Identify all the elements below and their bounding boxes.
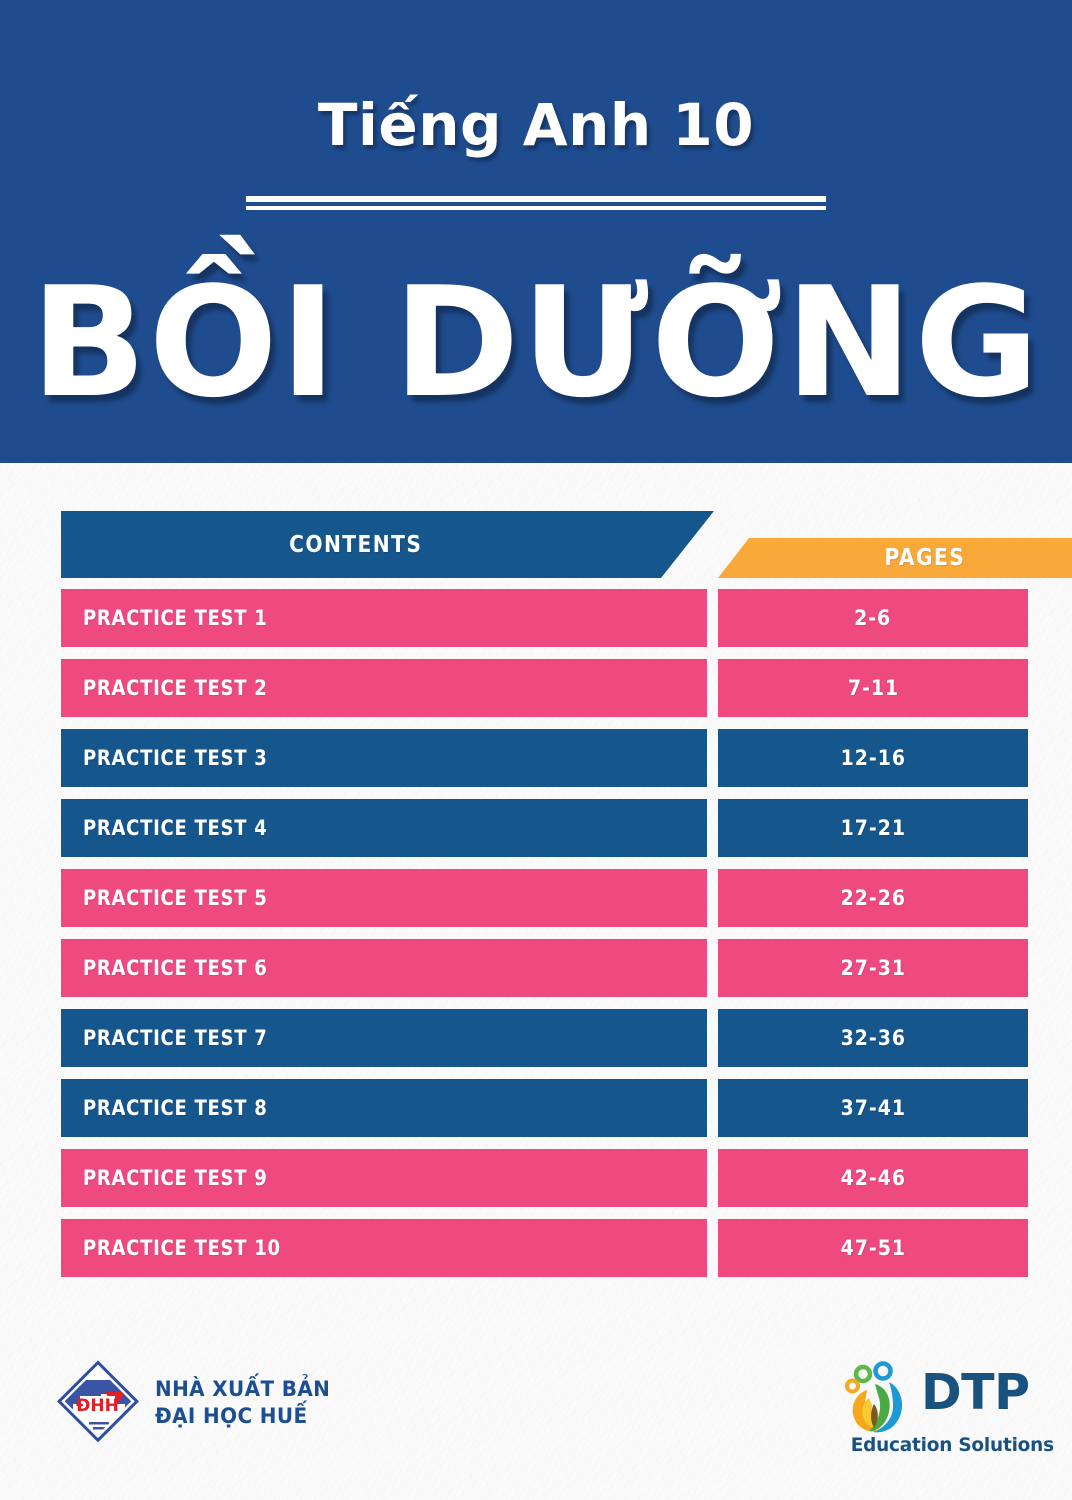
table-cell-pages[interactable]: 12-16 [718,729,1028,787]
page-range-label: 27-31 [840,956,905,980]
practice-test-label: PRACTICE TEST 9 [83,1166,267,1190]
table-cell-pages[interactable]: 42-46 [718,1149,1028,1207]
hero-banner: Tiếng Anh 10 BỒI DƯỠNG [0,0,1072,463]
table-row[interactable]: PRACTICE TEST 627-31 [61,939,1028,997]
dhh-diamond-logo-icon: ÐHH [55,1358,141,1448]
table-cell-contents[interactable]: PRACTICE TEST 5 [61,869,707,927]
table-row[interactable]: PRACTICE TEST 27-11 [61,659,1028,717]
table-cell-pages[interactable]: 47-51 [718,1219,1028,1277]
table-cell-contents[interactable]: PRACTICE TEST 10 [61,1219,707,1277]
page-range-label: 2-6 [854,606,891,630]
series-title: Tiếng Anh 10 [0,96,1072,154]
dtp-people-logo-icon [845,1360,919,1438]
page-range-label: 42-46 [840,1166,905,1190]
table-cell-pages[interactable]: 2-6 [718,589,1028,647]
table-cell-pages[interactable]: 32-36 [718,1009,1028,1067]
page-range-label: 47-51 [840,1236,905,1260]
table-cell-pages[interactable]: 27-31 [718,939,1028,997]
page-range-label: 22-26 [840,886,905,910]
table-cell-contents[interactable]: PRACTICE TEST 7 [61,1009,707,1067]
table-cell-contents[interactable]: PRACTICE TEST 1 [61,589,707,647]
publisher-name-line2: ĐẠI HỌC HUẾ [155,1403,330,1430]
title-divider [246,196,826,212]
table-header-row: CONTENTS PAGES [61,511,1028,578]
practice-test-label: PRACTICE TEST 7 [83,1026,267,1050]
practice-test-label: PRACTICE TEST 4 [83,816,267,840]
page-range-label: 17-21 [840,816,905,840]
table-cell-pages[interactable]: 22-26 [718,869,1028,927]
table-cell-contents[interactable]: PRACTICE TEST 6 [61,939,707,997]
publisher-name: NHÀ XUẤT BẢN ĐẠI HỌC HUẾ [155,1376,330,1431]
table-header-contents-cell: CONTENTS [61,511,761,578]
contents-column-label: CONTENTS [289,532,422,558]
svg-text:ÐHH: ÐHH [76,1396,119,1416]
page-range-label: 7-11 [847,676,898,700]
table-row[interactable]: PRACTICE TEST 522-26 [61,869,1028,927]
table-body: PRACTICE TEST 12-6PRACTICE TEST 27-11PRA… [61,589,1028,1277]
practice-test-label: PRACTICE TEST 2 [83,676,267,700]
table-cell-pages[interactable]: 17-21 [718,799,1028,857]
table-cell-contents[interactable]: PRACTICE TEST 8 [61,1079,707,1137]
publisher-name-line1: NHÀ XUẤT BẢN [155,1376,330,1403]
dtp-logo-group: DTP Education Solutions [845,1360,1035,1480]
main-title: BỒI DƯỠNG [0,263,1072,423]
table-row[interactable]: PRACTICE TEST 12-6 [61,589,1028,647]
page-range-label: 12-16 [840,746,905,770]
practice-test-label: PRACTICE TEST 6 [83,956,267,980]
dtp-tagline: Education Solutions [851,1434,1035,1456]
table-row[interactable]: PRACTICE TEST 942-46 [61,1149,1028,1207]
table-cell-contents[interactable]: PRACTICE TEST 3 [61,729,707,787]
table-row[interactable]: PRACTICE TEST 1047-51 [61,1219,1028,1277]
contents-table: CONTENTS PAGES PRACTICE TEST 12-6PRACTIC… [61,511,1028,1289]
table-cell-contents[interactable]: PRACTICE TEST 2 [61,659,707,717]
title-divider-thin-line [246,206,826,210]
table-header-pages-cell: PAGES [718,538,1072,578]
dtp-wordmark: DTP [921,1368,1030,1417]
page-range-label: 37-41 [840,1096,905,1120]
pages-column-label: PAGES [884,545,965,571]
footer: ÐHH NHÀ XUẤT BẢN ĐẠI HỌC HUẾ [0,1356,1072,1486]
practice-test-label: PRACTICE TEST 8 [83,1096,267,1120]
table-row[interactable]: PRACTICE TEST 837-41 [61,1079,1028,1137]
table-row[interactable]: PRACTICE TEST 417-21 [61,799,1028,857]
table-cell-contents[interactable]: PRACTICE TEST 4 [61,799,707,857]
publisher-logo-group: ÐHH NHÀ XUẤT BẢN ĐẠI HỌC HUẾ [55,1358,339,1448]
poster-page: Tiếng Anh 10 BỒI DƯỠNG CONTENTS PAGES PR… [0,0,1072,1500]
practice-test-label: PRACTICE TEST 5 [83,886,267,910]
table-cell-pages[interactable]: 7-11 [718,659,1028,717]
practice-test-label: PRACTICE TEST 1 [83,606,267,630]
title-divider-thick-line [246,196,826,202]
page-range-label: 32-36 [840,1026,905,1050]
table-cell-contents[interactable]: PRACTICE TEST 9 [61,1149,707,1207]
table-row[interactable]: PRACTICE TEST 312-16 [61,729,1028,787]
practice-test-label: PRACTICE TEST 10 [83,1236,281,1260]
table-row[interactable]: PRACTICE TEST 732-36 [61,1009,1028,1067]
table-cell-pages[interactable]: 37-41 [718,1079,1028,1137]
practice-test-label: PRACTICE TEST 3 [83,746,267,770]
